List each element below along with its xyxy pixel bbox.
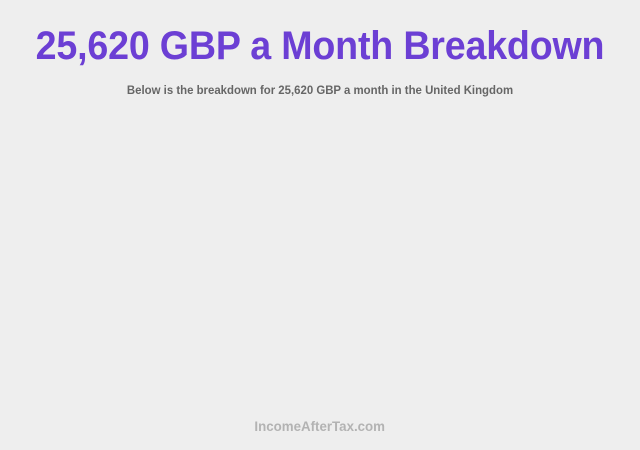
page-title: 25,620 GBP a Month Breakdown [19,24,621,68]
footer: IncomeAfterTax.com [0,418,640,436]
page-subtitle: Below is the breakdown for 25,620 GBP a … [16,82,624,98]
chart-empty-placeholder [0,120,640,410]
chart-region [0,120,640,410]
page-root: 25,620 GBP a Month Breakdown Below is th… [0,0,640,450]
header: 25,620 GBP a Month Breakdown Below is th… [0,0,640,98]
footer-watermark: IncomeAfterTax.com [255,418,386,434]
